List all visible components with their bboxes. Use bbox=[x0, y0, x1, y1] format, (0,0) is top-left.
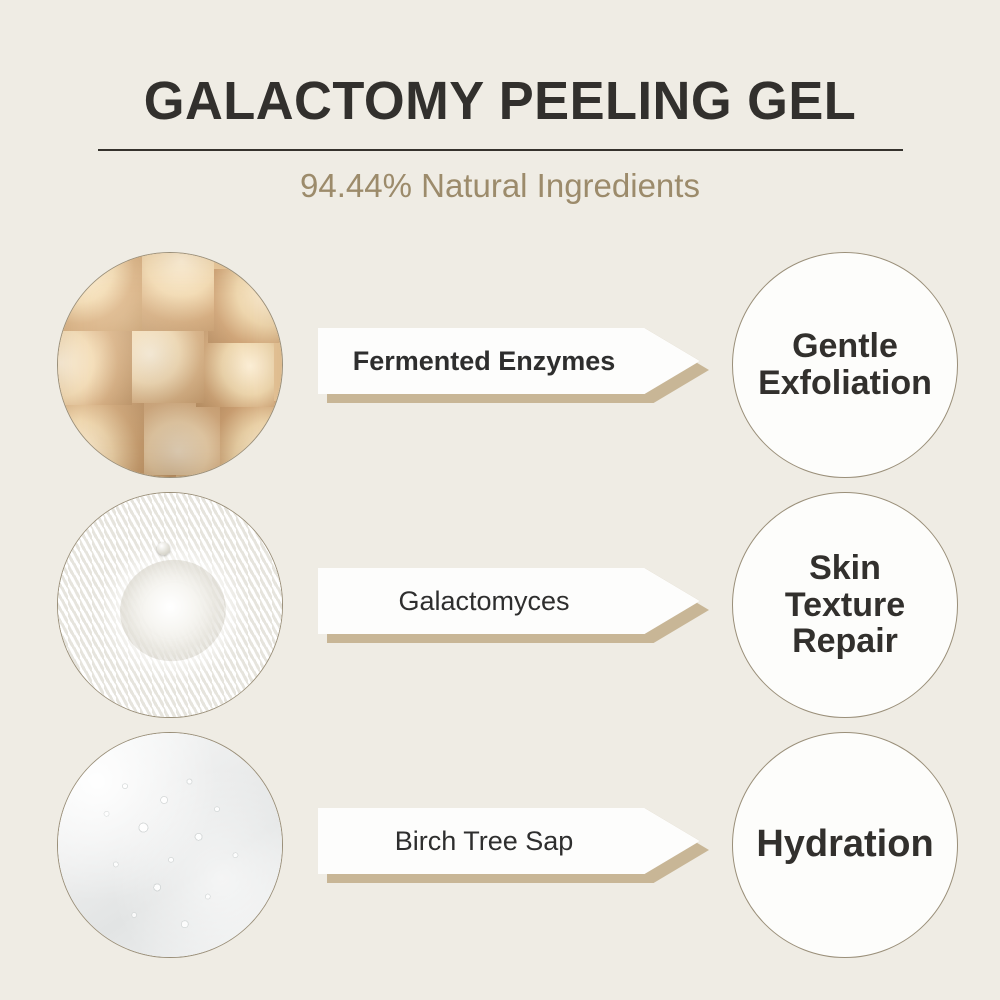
benefit-line: Skin bbox=[785, 550, 905, 587]
droplet-icon bbox=[157, 542, 170, 555]
benefit-line: Gentle bbox=[758, 328, 932, 365]
page-title: GALACTOMY PEELING GEL bbox=[15, 70, 985, 132]
ingredient-label: Galactomyces bbox=[318, 568, 656, 634]
ingredient-banner: Birch Tree Sap bbox=[318, 808, 710, 890]
benefit-circle: Skin Texture Repair bbox=[732, 492, 958, 718]
soybeans-photo bbox=[57, 252, 283, 478]
ingredient-banner: Galactomyces bbox=[318, 568, 710, 650]
header-divider bbox=[98, 149, 903, 151]
benefit-label: Hydration bbox=[748, 824, 941, 865]
ingredient-banner: Fermented Enzymes bbox=[318, 328, 710, 410]
ingredient-row: Fermented Enzymes Gentle Exfoliation bbox=[0, 252, 1000, 478]
ingredient-label: Birch Tree Sap bbox=[318, 808, 656, 874]
clear-gel-photo bbox=[57, 732, 283, 958]
rice-milk-photo bbox=[57, 492, 283, 718]
benefit-circle: Hydration bbox=[732, 732, 958, 958]
benefit-line: Texture bbox=[785, 587, 905, 624]
ingredient-label: Fermented Enzymes bbox=[318, 328, 656, 394]
benefit-line: Exfoliation bbox=[758, 365, 932, 402]
clear-gel-texture bbox=[57, 732, 283, 958]
ingredient-row: Galactomyces Skin Texture Repair bbox=[0, 492, 1000, 718]
benefit-line: Repair bbox=[785, 623, 905, 660]
benefit-line: Hydration bbox=[756, 824, 933, 865]
soybeans-texture bbox=[57, 252, 283, 478]
benefit-label: Gentle Exfoliation bbox=[750, 328, 940, 401]
page-subtitle: 94.44% Natural Ingredients bbox=[0, 167, 1000, 205]
benefit-label: Skin Texture Repair bbox=[777, 550, 913, 660]
benefit-circle: Gentle Exfoliation bbox=[732, 252, 958, 478]
rice-milk-texture bbox=[57, 492, 283, 718]
infographic-page: GALACTOMY PEELING GEL 94.44% Natural Ing… bbox=[0, 0, 1000, 1000]
ingredient-row: Birch Tree Sap Hydration bbox=[0, 732, 1000, 958]
